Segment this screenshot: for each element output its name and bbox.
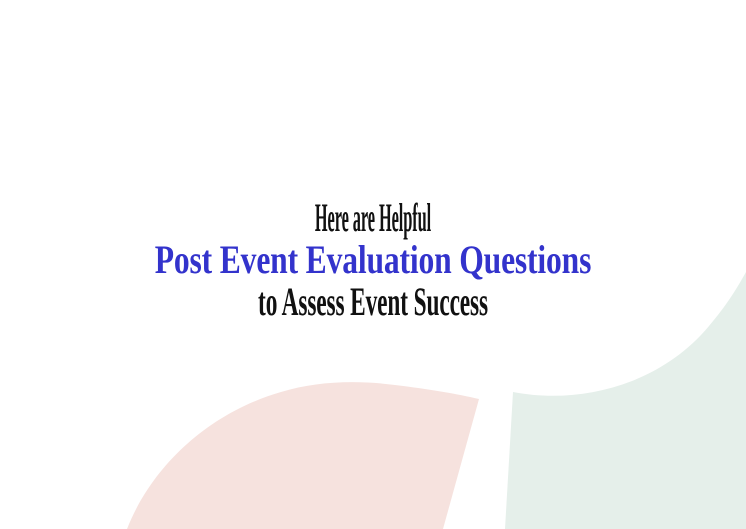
pink-petal-shape xyxy=(127,382,479,529)
headline-line-3: to Assess Event Success xyxy=(156,282,591,322)
headline-line-2-highlight: Post Event Evaluation Questions xyxy=(79,240,668,280)
slide-canvas: Here are Helpful Post Event Evaluation Q… xyxy=(0,0,746,529)
headline-block: Here are Helpful Post Event Evaluation Q… xyxy=(0,198,746,322)
headline-line-1: Here are Helpful xyxy=(221,198,526,238)
